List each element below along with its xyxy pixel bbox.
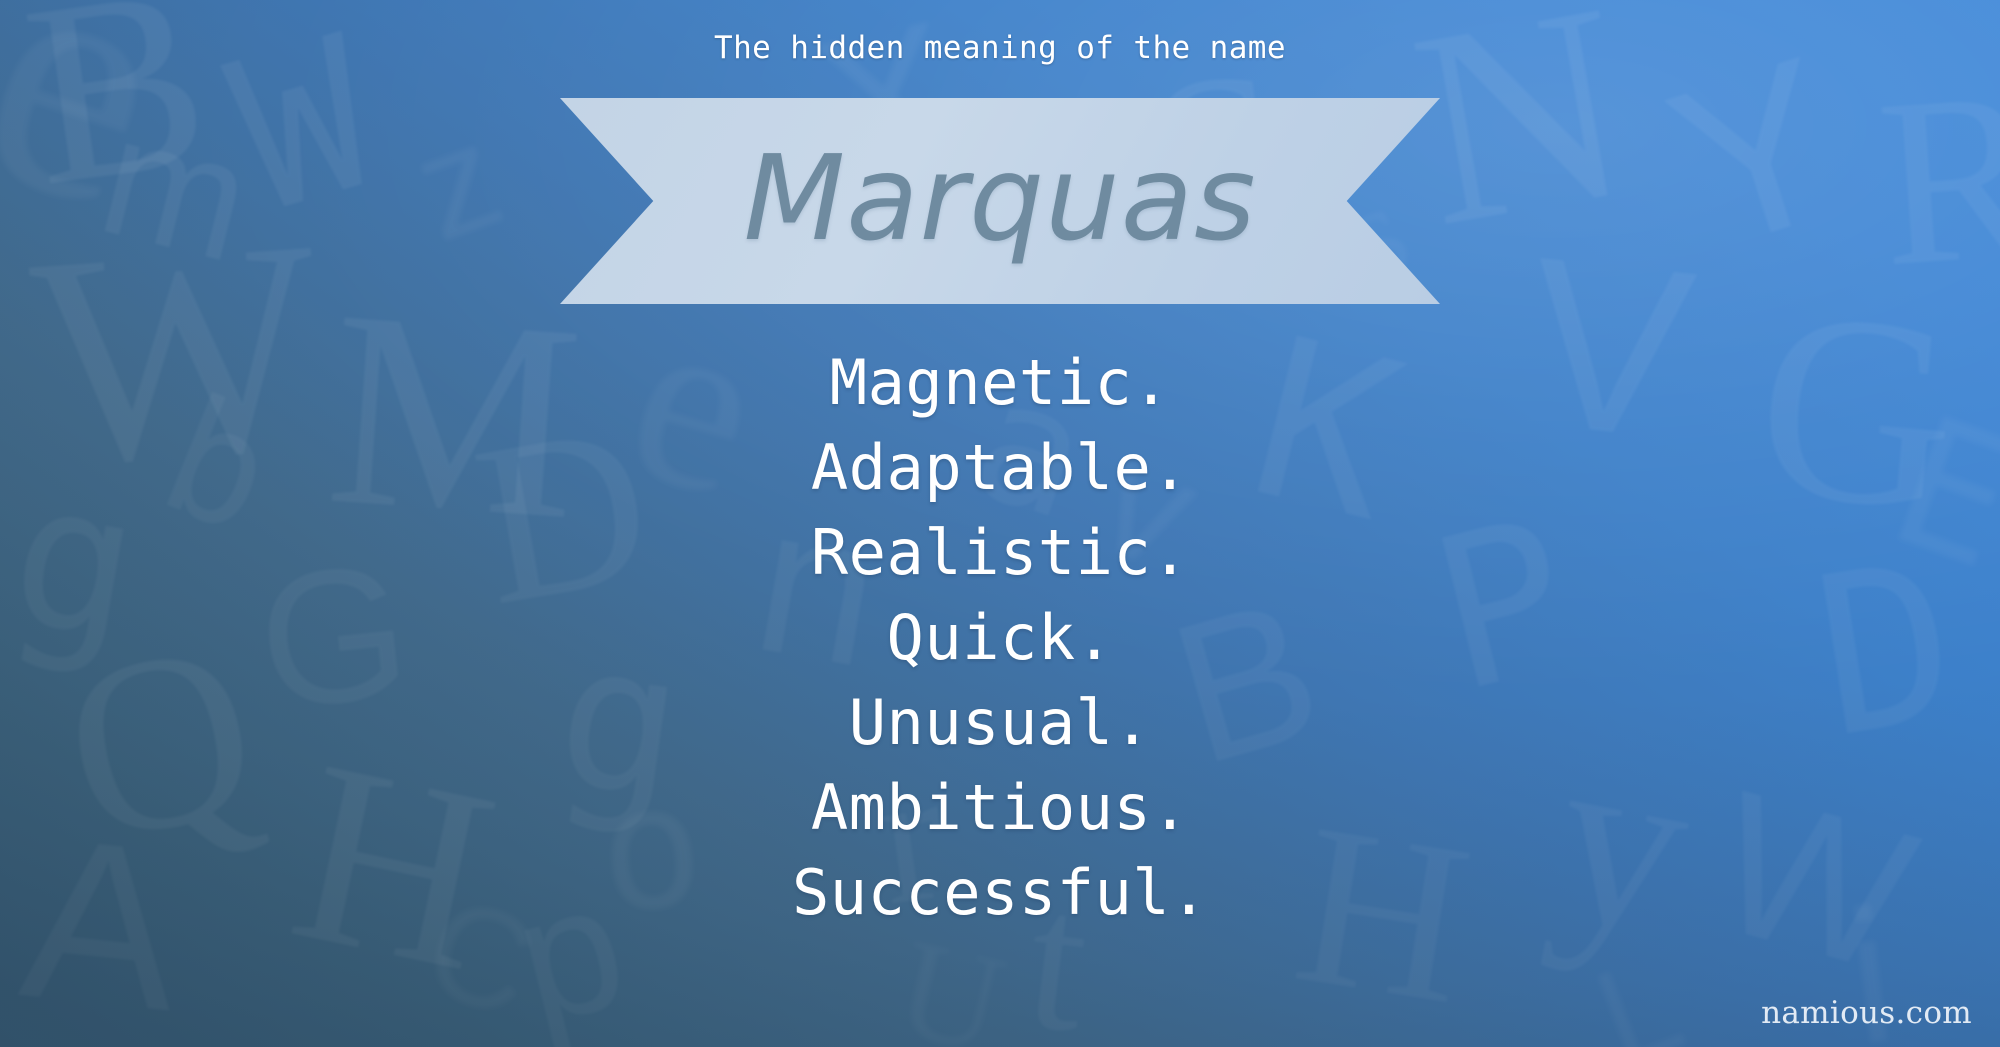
- trait-item: Realistic.: [0, 510, 2000, 595]
- name-banner: Marquas: [560, 98, 1440, 304]
- texture-glyph: U: [888, 930, 1012, 1047]
- trait-item: Quick.: [0, 595, 2000, 680]
- texture-glyph: L: [1583, 950, 1694, 1047]
- trait-item: Unusual.: [0, 680, 2000, 765]
- texture-glyph: R: [1873, 75, 2000, 282]
- header: The hidden meaning of the name: [0, 30, 2000, 66]
- texture-glyph: m: [90, 105, 261, 275]
- trait-item: Ambitious.: [0, 765, 2000, 850]
- trait-item: Magnetic.: [0, 340, 2000, 425]
- page-title: The hidden meaning of the name: [714, 30, 1286, 66]
- site-watermark: namious.com: [1761, 995, 1972, 1031]
- texture-glyph: Y: [1655, 41, 1859, 268]
- name-text: Marquas: [560, 98, 1440, 304]
- trait-item: Successful.: [0, 850, 2000, 935]
- trait-item: Adaptable.: [0, 425, 2000, 510]
- name-meaning-graphic: B m W g Q A e W M G H b z D g p e o n r …: [0, 0, 2000, 1047]
- texture-glyph: z: [401, 111, 514, 252]
- trait-list: Magnetic. Adaptable. Realistic. Quick. U…: [0, 340, 2000, 935]
